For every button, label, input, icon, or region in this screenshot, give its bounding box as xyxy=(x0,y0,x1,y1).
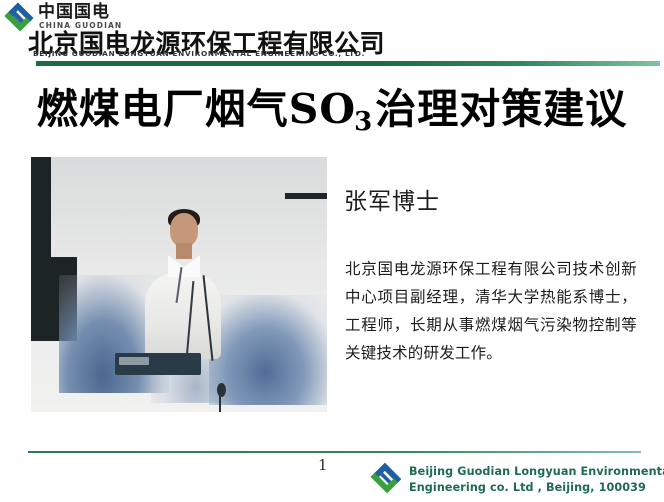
title-suffix: 治理对策建议 xyxy=(375,85,627,133)
photo-ink-mountain-right xyxy=(209,295,327,405)
footer-line-1: Beijing Guodian Longyuan Environmental xyxy=(409,464,664,480)
speaker-photo: 中国环境保护产业协会 第十五届中国国际环保展览会 CHINA INTERNATI… xyxy=(31,157,327,412)
title-formula-main: SO xyxy=(289,85,356,133)
footer-divider xyxy=(28,451,641,453)
guodian-diamond-logo-icon xyxy=(368,461,404,495)
photo-speaker-head xyxy=(170,213,198,247)
photo-speaker-neck xyxy=(176,243,192,259)
guodian-diamond-logo-icon xyxy=(2,2,36,32)
speaker-name: 张军博士 xyxy=(344,182,440,216)
photo-floor-microphone-stand xyxy=(219,393,221,412)
header-divider xyxy=(36,61,660,66)
photo-lectern-laptop xyxy=(119,357,149,365)
page-title: 燃煤电厂烟气SO3治理对策建议 xyxy=(0,84,664,140)
page-number: 1 xyxy=(318,456,328,474)
speaker-bio: 北京国电龙源环保工程有限公司技术创新中心项目副经理，清华大学热能系博士，工程师，… xyxy=(345,255,637,367)
presentation-slide: 中国国电 CHINA GUODIAN 北京国电龙源环保工程有限公司 BEIJIN… xyxy=(0,0,664,502)
company-name-en: BEIJING GUODIAN LONGYUAN ENVIRONMENTAL E… xyxy=(33,49,365,58)
photo-dark-strip xyxy=(285,193,327,199)
footer-company-address: Beijing Guodian Longyuan Environmental E… xyxy=(409,464,664,496)
title-formula-subscript: 3 xyxy=(354,107,373,137)
title-prefix: 燃煤电厂烟气 xyxy=(37,85,289,133)
brand-name-cn: 中国国电 xyxy=(38,3,110,21)
footer-line-2: Engineering co. Ltd , Beijing, 100039 xyxy=(409,480,664,496)
